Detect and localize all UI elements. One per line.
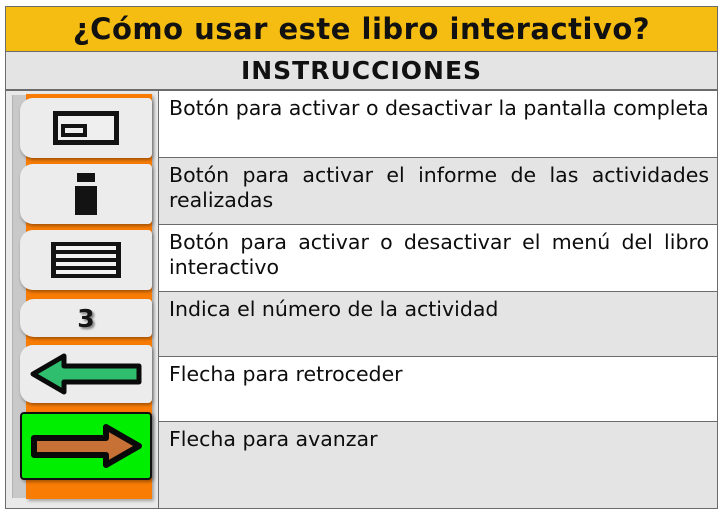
instructions-page: ¿Cómo usar este libro interactivo? INSTR…	[0, 0, 723, 515]
section-subtitle: INSTRUCCIONES	[241, 56, 482, 85]
table-row: Botón para activar el informe de las act…	[159, 158, 717, 225]
fullscreen-icon	[53, 111, 119, 145]
row-description: Botón para activar el informe de las act…	[169, 163, 709, 213]
menu-icon	[51, 242, 121, 278]
arrow-right-icon	[30, 423, 142, 469]
report-button[interactable]	[20, 164, 152, 224]
info-icon	[75, 173, 97, 215]
table-row: Indica el número de la actividad	[159, 292, 717, 357]
legend-icon-column: 3	[6, 91, 159, 508]
row-description: Flecha para avanzar	[169, 427, 709, 452]
arrow-left-icon	[30, 353, 142, 395]
activity-number-badge: 3	[20, 299, 152, 337]
row-description: Botón para activar o desactivar la panta…	[169, 96, 709, 121]
fullscreen-button[interactable]	[20, 98, 152, 158]
previous-button[interactable]	[20, 345, 152, 403]
table-row: Botón para activar o desactivar el menú …	[159, 225, 717, 292]
row-description: Indica el número de la actividad	[169, 297, 709, 322]
table-row: Botón para activar o desactivar la panta…	[159, 91, 717, 158]
page-title: ¿Cómo usar este libro interactivo?	[73, 12, 650, 46]
legend-description-column: Botón para activar o desactivar la panta…	[159, 91, 717, 508]
row-description: Flecha para retroceder	[169, 362, 709, 387]
page-title-bar: ¿Cómo usar este libro interactivo?	[5, 6, 718, 52]
activity-number-value: 3	[77, 304, 94, 333]
legend-table: 3 Botón para activar o desactivar la pan…	[5, 90, 718, 509]
table-row: Flecha para avanzar	[159, 422, 717, 508]
section-subtitle-bar: INSTRUCCIONES	[5, 52, 718, 90]
next-button[interactable]	[20, 412, 152, 480]
table-row: Flecha para retroceder	[159, 357, 717, 422]
toolbar-panel: 3	[26, 94, 152, 499]
row-description: Botón para activar o desactivar el menú …	[169, 230, 709, 280]
menu-button[interactable]	[20, 230, 152, 290]
